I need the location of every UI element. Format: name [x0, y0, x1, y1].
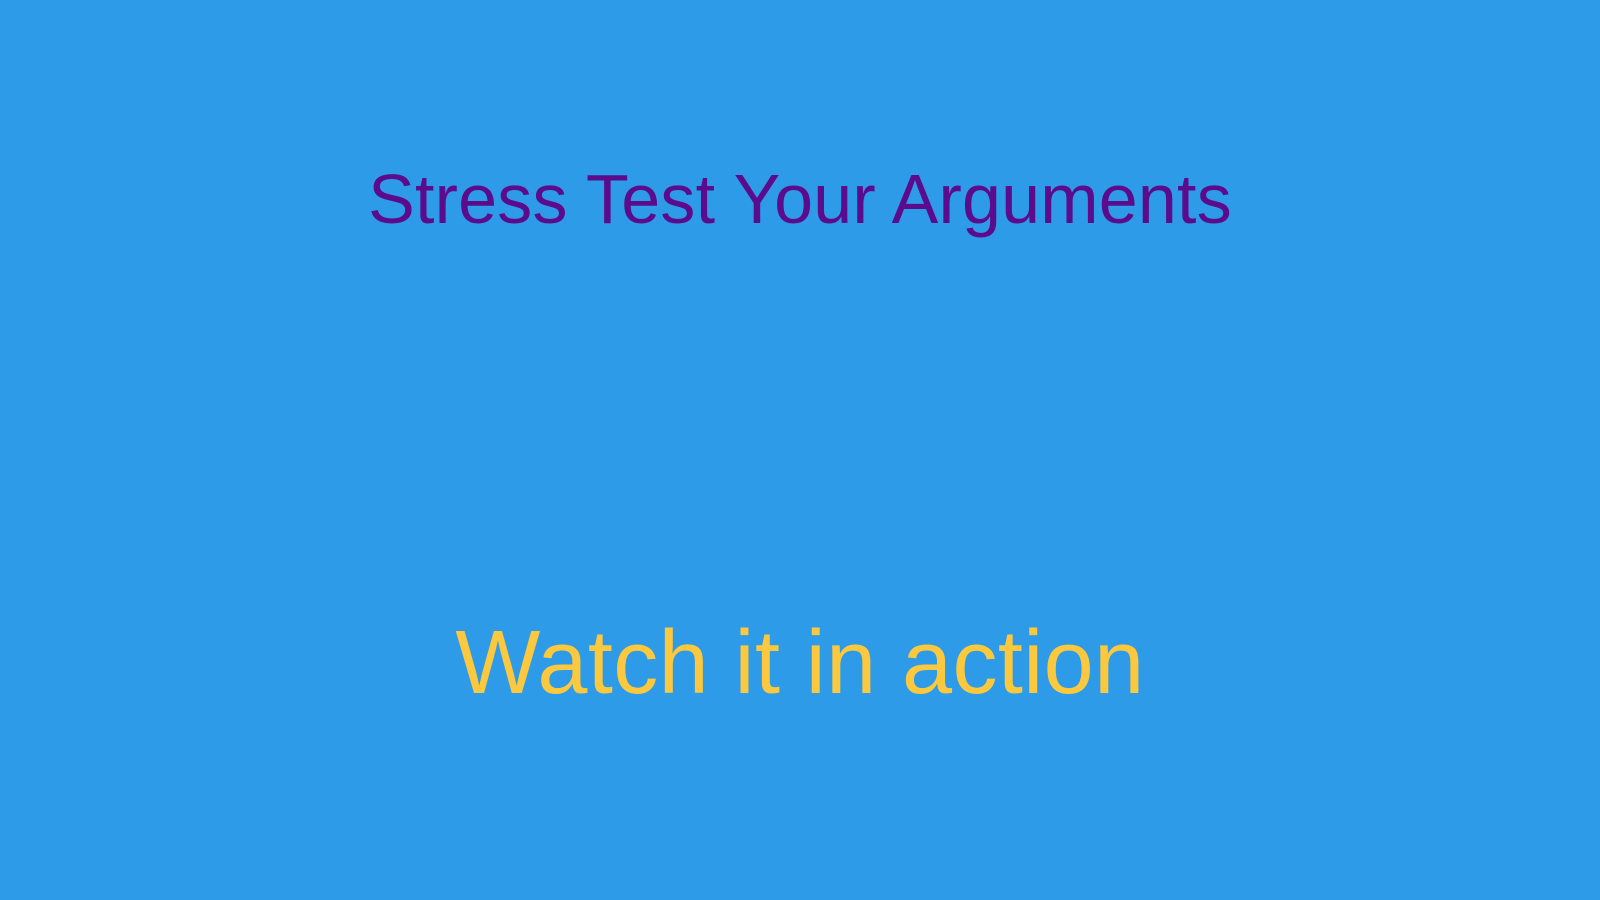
page-title: Stress Test Your Arguments: [368, 164, 1232, 234]
subtitle: Watch it in action: [455, 618, 1144, 708]
headline-block: Stress Test Your Arguments: [0, 0, 1600, 420]
subheadline-block: Watch it in action: [0, 420, 1600, 900]
slide-canvas: Stress Test Your Arguments Watch it in a…: [0, 0, 1600, 900]
